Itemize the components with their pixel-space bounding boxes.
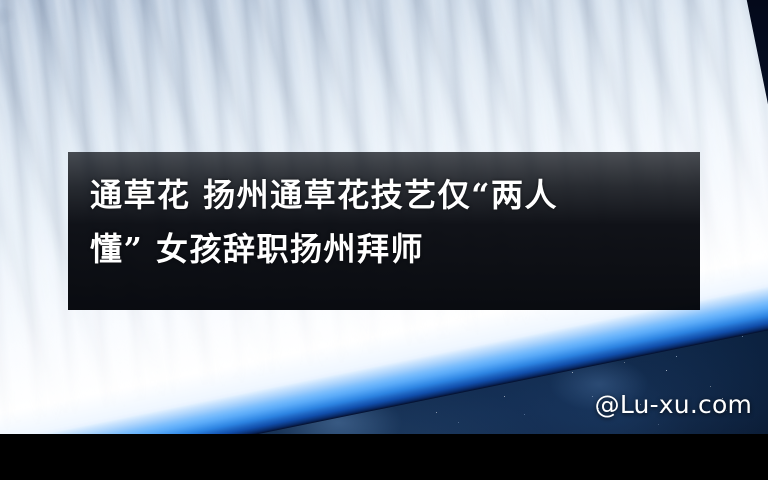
site-watermark: @Lu-xu.com [595,390,752,419]
letterbox-bar-bottom [0,434,768,480]
headline-line-2: 懂” 女孩辞职扬州拜师 [90,222,678,276]
headline-line-1: 通草花 扬州通草花技艺仅“两人 [90,168,678,222]
headline-overlay-panel: 通草花 扬州通草花技艺仅“两人 懂” 女孩辞职扬州拜师 [68,152,700,310]
screenshot-canvas: 通草花 扬州通草花技艺仅“两人 懂” 女孩辞职扬州拜师 @Lu-xu.com [0,0,768,480]
